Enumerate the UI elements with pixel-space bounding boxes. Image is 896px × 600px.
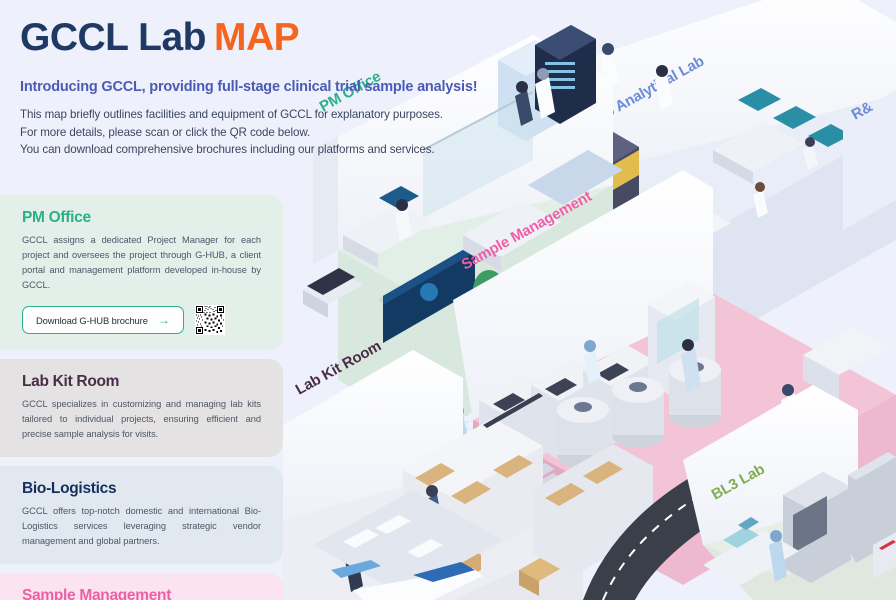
facility-card-list: PM Office GCCL assigns a dedicated Proje… [0, 195, 283, 600]
page-title: GCCL LabMAP [20, 18, 580, 59]
description-line-2: For more details, please scan or click t… [20, 124, 580, 142]
card-body-lab-kit-room: GCCL specializes in customizing and mana… [22, 397, 261, 442]
page-header: GCCL LabMAP Introducing GCCL, providing … [20, 18, 580, 159]
card-body-bio-logistics: GCCL offers top-notch domestic and inter… [22, 504, 261, 549]
page-title-accent: MAP [214, 16, 299, 59]
qr-code-icon[interactable] [195, 305, 225, 335]
description-line-1: This map briefly outlines facilities and… [20, 106, 580, 124]
description-line-3: You can download comprehensive brochures… [20, 141, 580, 159]
card-bio-logistics[interactable]: Bio-Logistics GCCL offers top-notch dome… [0, 466, 283, 564]
card-pm-office[interactable]: PM Office GCCL assigns a dedicated Proje… [0, 195, 283, 350]
page-title-main: GCCL Lab [20, 16, 206, 59]
card-title-pm-office: PM Office [22, 209, 261, 227]
download-ghub-brochure-button[interactable]: Download G-HUB brochure → [22, 306, 184, 334]
card-lab-kit-room[interactable]: Lab Kit Room GCCL specializes in customi… [0, 359, 283, 457]
page-description: This map briefly outlines facilities and… [20, 106, 580, 159]
card-body-pm-office: GCCL assigns a dedicated Project Manager… [22, 233, 261, 293]
pm-office-cta-row: Download G-HUB brochure → [22, 305, 261, 335]
card-title-sample-management: Sample Management [22, 587, 261, 600]
arrow-right-icon: → [158, 314, 170, 326]
page-subtitle: Introducing GCCL, providing full-stage c… [20, 79, 580, 95]
lab-map-page: Bio Analytical Lab R& [0, 0, 896, 600]
card-title-lab-kit-room: Lab Kit Room [22, 373, 261, 391]
card-sample-management[interactable]: Sample Management The 24-hour operating … [0, 573, 283, 600]
download-ghub-brochure-label: Download G-HUB brochure [36, 315, 148, 326]
card-title-bio-logistics: Bio-Logistics [22, 480, 261, 498]
